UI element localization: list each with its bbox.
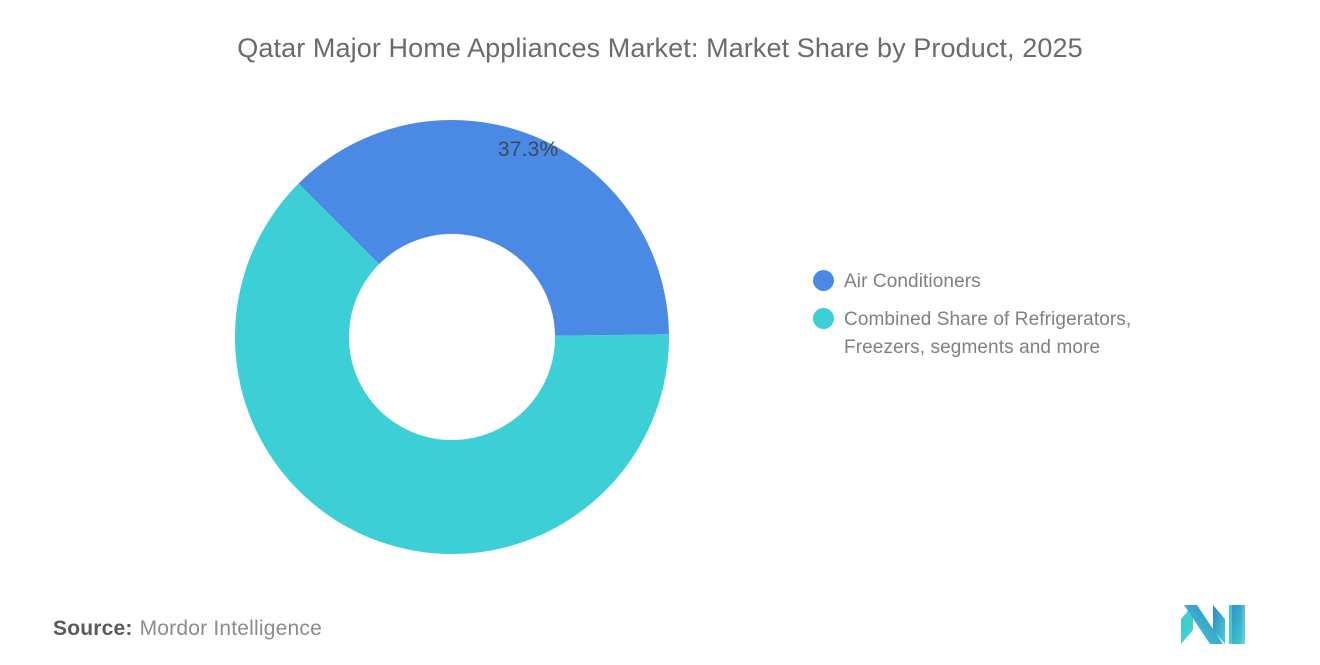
source-value: Mordor Intelligence bbox=[140, 617, 322, 640]
logo-svg bbox=[1180, 603, 1250, 645]
legend-label-combined-share: Combined Share of Refrigerators, Freezer… bbox=[844, 306, 1189, 362]
chart-figure: Qatar Major Home Appliances Market: Mark… bbox=[0, 0, 1320, 665]
legend-item-combined-share[interactable]: Combined Share of Refrigerators, Freezer… bbox=[813, 306, 1233, 362]
chart-title: Qatar Major Home Appliances Market: Mark… bbox=[0, 30, 1320, 66]
mordor-intelligence-logo-icon bbox=[1180, 603, 1250, 645]
donut-chart: 37.3% bbox=[235, 120, 669, 554]
legend-swatch-icon bbox=[813, 308, 834, 329]
donut-chart-svg bbox=[235, 120, 669, 554]
legend-label-air-conditioners: Air Conditioners bbox=[844, 268, 981, 296]
source-label: Source: bbox=[53, 617, 133, 640]
legend-item-air-conditioners[interactable]: Air Conditioners bbox=[813, 268, 1233, 296]
source-line: Source:Mordor Intelligence bbox=[53, 615, 322, 643]
donut-slice-group bbox=[235, 120, 669, 554]
chart-legend: Air Conditioners Combined Share of Refri… bbox=[813, 268, 1233, 372]
legend-swatch-icon bbox=[813, 270, 834, 291]
